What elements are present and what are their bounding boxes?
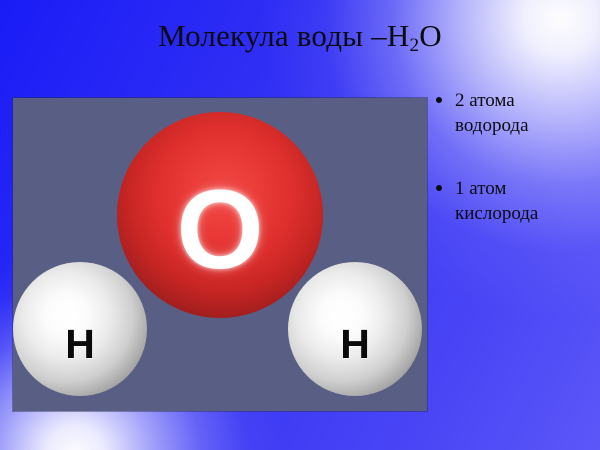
title-subscript: 2 bbox=[409, 35, 419, 56]
list-item-label: 1 атом кислорода bbox=[455, 178, 538, 224]
hydrogen-atom-label: H bbox=[13, 324, 147, 365]
page-title: Молекула воды –H2O bbox=[0, 16, 600, 61]
oxygen-atom: O bbox=[117, 112, 323, 318]
list-item: 1 атом кислорода bbox=[430, 176, 592, 226]
bullet-list: 2 атома водорода 1 атом кислорода bbox=[430, 88, 592, 264]
list-item-label: 2 атома водорода bbox=[455, 90, 529, 136]
title-text: Молекула воды –H bbox=[158, 18, 409, 53]
water-molecule-image: H H O bbox=[13, 98, 427, 411]
oxygen-atom-label: O bbox=[117, 174, 323, 286]
list-item: 2 атома водорода bbox=[430, 88, 592, 138]
bullet-dot-icon bbox=[436, 185, 442, 191]
slide: Молекула воды –H2O H H O 2 атома водород… bbox=[0, 0, 600, 450]
bullet-dot-icon bbox=[436, 97, 442, 103]
title-suffix: O bbox=[419, 18, 442, 53]
hydrogen-atom-label: H bbox=[288, 324, 422, 365]
